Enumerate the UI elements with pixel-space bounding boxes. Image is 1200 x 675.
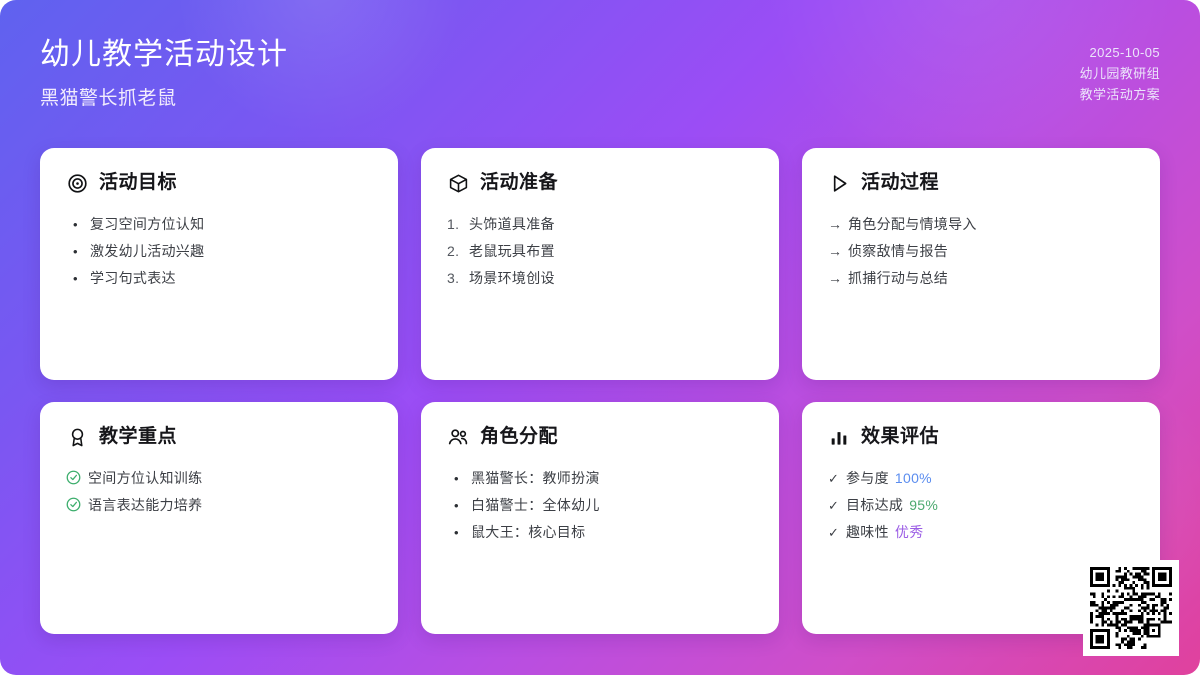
list-item: •学习句式表达 [66, 265, 372, 292]
list-item: ✓ 趣味性 优秀 [828, 519, 1134, 546]
card-title: 效果评估 [861, 426, 939, 449]
target-icon [66, 172, 88, 194]
list-item: ✓ 目标达成 95% [828, 492, 1134, 519]
roles-list: •黑猫警长：教师扮演 •白猫警士：全体幼儿 •鼠大王：核心目标 [447, 465, 753, 546]
list-item-text: 抓捕行动与总结 [848, 265, 948, 292]
metric-value: 优秀 [895, 519, 924, 546]
number-marker: 2. [447, 238, 469, 265]
card-header: 角色分配 [447, 426, 753, 449]
check-marker: ✓ [828, 492, 846, 519]
meta-organization: 幼儿园教研组 [1080, 63, 1160, 84]
card-header: 效果评估 [828, 426, 1134, 449]
list-item-text: 趣味性 [846, 519, 889, 546]
card-title: 活动过程 [861, 172, 939, 195]
focus-list: 空间方位认知训练 语言表达能力培养 [66, 465, 372, 519]
play-icon [828, 172, 850, 194]
evaluation-list: ✓ 参与度 100% ✓ 目标达成 95% ✓ 趣味性 优秀 [828, 465, 1134, 546]
arrow-marker: → [828, 238, 848, 265]
card-header: 活动目标 [66, 172, 372, 195]
list-item: 2.老鼠玩具布置 [447, 238, 753, 265]
list-item-text: 学习句式表达 [90, 265, 176, 292]
card-activity-preparation[interactable]: 活动准备 1.头饰道具准备 2.老鼠玩具布置 3.场景环境创设 [421, 148, 779, 380]
bullet-marker: • [447, 492, 471, 519]
list-item: ✓ 参与度 100% [828, 465, 1134, 492]
bullet-marker: • [66, 211, 90, 238]
arrow-marker: → [828, 211, 848, 238]
check-circle-icon [66, 470, 88, 485]
meta-date: 2025-10-05 [1080, 42, 1160, 63]
list-item-text: 侦察敌情与报告 [848, 238, 948, 265]
list-item-text: 鼠大王：核心目标 [471, 519, 585, 546]
qr-code-image [1090, 567, 1172, 649]
list-item-text: 黑猫警长：教师扮演 [471, 465, 600, 492]
card-title: 角色分配 [480, 426, 558, 449]
slide-root: 幼儿教学活动设计 黑猫警长抓老鼠 2025-10-05 幼儿园教研组 教学活动方… [0, 0, 1200, 675]
list-item-text: 参与度 [846, 465, 889, 492]
list-item: •黑猫警长：教师扮演 [447, 465, 753, 492]
list-item-text: 复习空间方位认知 [90, 211, 204, 238]
list-item: →角色分配与情境导入 [828, 211, 1134, 238]
list-item: •激发幼儿活动兴趣 [66, 238, 372, 265]
list-item: •白猫警士：全体幼儿 [447, 492, 753, 519]
list-item-text: 老鼠玩具布置 [469, 238, 555, 265]
meta-doc-type: 教学活动方案 [1080, 84, 1160, 105]
card-header: 活动过程 [828, 172, 1134, 195]
check-circle-icon [66, 497, 88, 512]
list-item: →抓捕行动与总结 [828, 265, 1134, 292]
list-item: 语言表达能力培养 [66, 492, 372, 519]
goals-list: •复习空间方位认知 •激发幼儿活动兴趣 •学习句式表达 [66, 211, 372, 292]
list-item-text: 激发幼儿活动兴趣 [90, 238, 204, 265]
list-item-text: 角色分配与情境导入 [848, 211, 977, 238]
slide-header: 幼儿教学活动设计 黑猫警长抓老鼠 2025-10-05 幼儿园教研组 教学活动方… [0, 0, 1200, 140]
list-item-text: 语言表达能力培养 [88, 492, 202, 519]
bar-chart-icon [828, 426, 850, 448]
card-title: 活动目标 [99, 172, 177, 195]
page-title: 幼儿教学活动设计 [40, 37, 288, 73]
preparation-list: 1.头饰道具准备 2.老鼠玩具布置 3.场景环境创设 [447, 211, 753, 292]
bullet-marker: • [66, 238, 90, 265]
list-item-text: 场景环境创设 [469, 265, 555, 292]
card-teaching-focus[interactable]: 教学重点 空间方位认知训练 语言表达能力培养 [40, 402, 398, 634]
list-item-text: 目标达成 [846, 492, 903, 519]
card-activity-process[interactable]: 活动过程 →角色分配与情境导入 →侦察敌情与报告 →抓捕行动与总结 [802, 148, 1160, 380]
card-activity-goals[interactable]: 活动目标 •复习空间方位认知 •激发幼儿活动兴趣 •学习句式表达 [40, 148, 398, 380]
number-marker: 1. [447, 211, 469, 238]
list-item: →侦察敌情与报告 [828, 238, 1134, 265]
bullet-marker: • [66, 265, 90, 292]
card-grid: 活动目标 •复习空间方位认知 •激发幼儿活动兴趣 •学习句式表达 活动准备 [40, 148, 1160, 634]
metric-value: 100% [895, 465, 932, 492]
page-subtitle: 黑猫警长抓老鼠 [40, 88, 177, 111]
arrow-marker: → [828, 265, 848, 292]
list-item: 空间方位认知训练 [66, 465, 372, 492]
card-title: 活动准备 [480, 172, 558, 195]
award-icon [66, 426, 88, 448]
list-item-text: 白猫警士：全体幼儿 [471, 492, 600, 519]
check-marker: ✓ [828, 519, 846, 546]
number-marker: 3. [447, 265, 469, 292]
qr-code[interactable] [1083, 560, 1179, 656]
bullet-marker: • [447, 519, 471, 546]
list-item: •复习空间方位认知 [66, 211, 372, 238]
list-item: •鼠大王：核心目标 [447, 519, 753, 546]
card-header: 教学重点 [66, 426, 372, 449]
metric-value: 95% [909, 492, 938, 519]
list-item: 1.头饰道具准备 [447, 211, 753, 238]
card-title: 教学重点 [99, 426, 177, 449]
process-list: →角色分配与情境导入 →侦察敌情与报告 →抓捕行动与总结 [828, 211, 1134, 292]
bullet-marker: • [447, 465, 471, 492]
list-item: 3.场景环境创设 [447, 265, 753, 292]
package-icon [447, 172, 469, 194]
list-item-text: 头饰道具准备 [469, 211, 555, 238]
header-meta: 2025-10-05 幼儿园教研组 教学活动方案 [1080, 42, 1160, 105]
card-role-assignment[interactable]: 角色分配 •黑猫警长：教师扮演 •白猫警士：全体幼儿 •鼠大王：核心目标 [421, 402, 779, 634]
check-marker: ✓ [828, 465, 846, 492]
card-header: 活动准备 [447, 172, 753, 195]
users-icon [447, 426, 469, 448]
list-item-text: 空间方位认知训练 [88, 465, 202, 492]
